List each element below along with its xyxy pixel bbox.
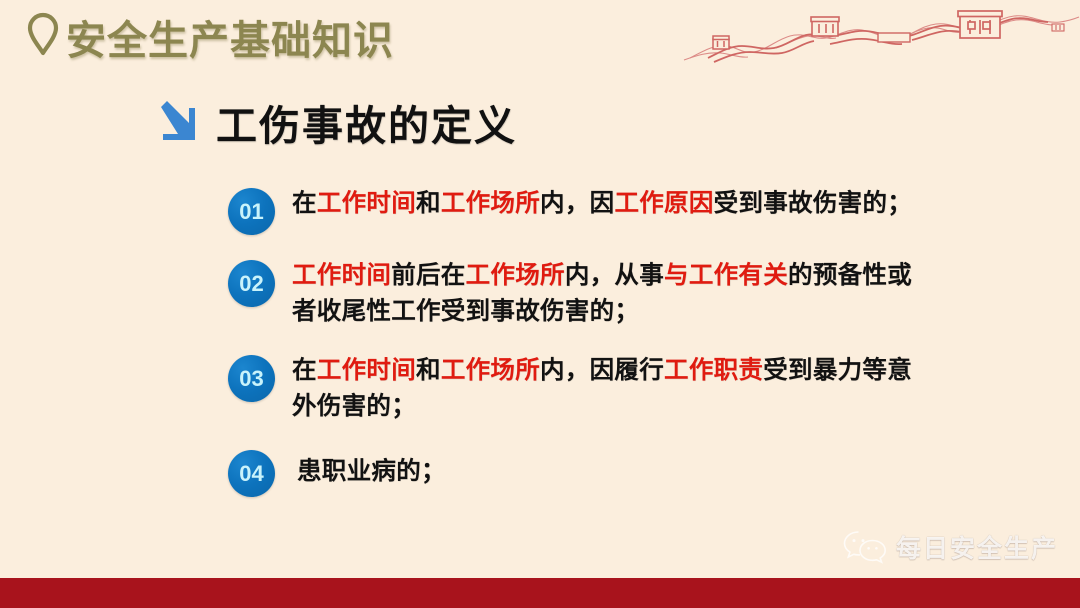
slide-canvas: 安全生产基础知识 xyxy=(0,0,1080,608)
highlighted-term: 工作原因 xyxy=(614,190,713,217)
slide-header: 安全生产基础知识 xyxy=(0,0,1080,72)
plain-text: 和 xyxy=(416,190,441,217)
highlighted-term: 工作时间 xyxy=(317,357,416,384)
highlighted-term: 工作职责 xyxy=(664,357,763,384)
plain-text: 患职业病的； xyxy=(297,458,446,485)
list-item-number: 02 xyxy=(228,260,275,307)
plain-text: 内，因履行 xyxy=(540,357,664,384)
list-item-number: 04 xyxy=(228,450,275,497)
plain-text: 内，因 xyxy=(540,190,614,217)
plain-text: 受到事故伤害的； xyxy=(714,190,912,217)
footer-bar xyxy=(0,578,1080,608)
highlighted-term: 与工作有关 xyxy=(664,262,788,289)
plain-text: 和 xyxy=(416,357,441,384)
highlighted-term: 工作场所 xyxy=(441,357,540,384)
highlighted-term: 工作场所 xyxy=(466,262,565,289)
section-heading: 工伤事故的定义 xyxy=(216,92,517,152)
plain-text: 内，从事 xyxy=(565,262,664,289)
plain-text: 在 xyxy=(292,190,317,217)
list-item-text: 在工作时间和工作场所内，因工作原因受到事故伤害的； xyxy=(292,186,912,222)
great-wall-illustration xyxy=(680,0,1080,70)
list-item: 04 患职业病的； xyxy=(228,448,928,497)
highlighted-term: 工作时间 xyxy=(292,262,391,289)
list-item-text: 在工作时间和工作场所内，因履行工作职责受到暴力等意外伤害的； xyxy=(292,353,928,425)
highlighted-term: 工作场所 xyxy=(441,190,540,217)
list-item-text: 工作时间前后在工作场所内，从事与工作有关的预备性或者收尾性工作受到事故伤害的； xyxy=(292,258,928,330)
list-item-text: 患职业病的； xyxy=(297,454,446,490)
section-title-row: 工伤事故的定义 xyxy=(150,92,517,152)
arrow-down-right-icon xyxy=(150,98,198,146)
list-item-number: 01 xyxy=(228,188,275,235)
plain-text: 在 xyxy=(292,357,317,384)
highlighted-term: 工作时间 xyxy=(317,190,416,217)
watermark-label: 每日安全生产 xyxy=(896,529,1058,565)
plain-text: 前后在 xyxy=(391,262,465,289)
list-item: 03 在工作时间和工作场所内，因履行工作职责受到暴力等意外伤害的； xyxy=(228,353,928,425)
wechat-icon xyxy=(842,528,888,566)
location-pin-icon xyxy=(26,12,60,56)
list-item: 02 工作时间前后在工作场所内，从事与工作有关的预备性或者收尾性工作受到事故伤害… xyxy=(228,258,928,330)
page-title: 安全生产基础知识 xyxy=(66,8,394,66)
channel-watermark: 每日安全生产 xyxy=(842,528,1058,566)
list-item: 01 在工作时间和工作场所内，因工作原因受到事故伤害的； xyxy=(228,186,928,235)
list-item-number: 03 xyxy=(228,355,275,402)
definition-list: 01 在工作时间和工作场所内，因工作原因受到事故伤害的； 02 工作时间前后在工… xyxy=(228,186,928,520)
